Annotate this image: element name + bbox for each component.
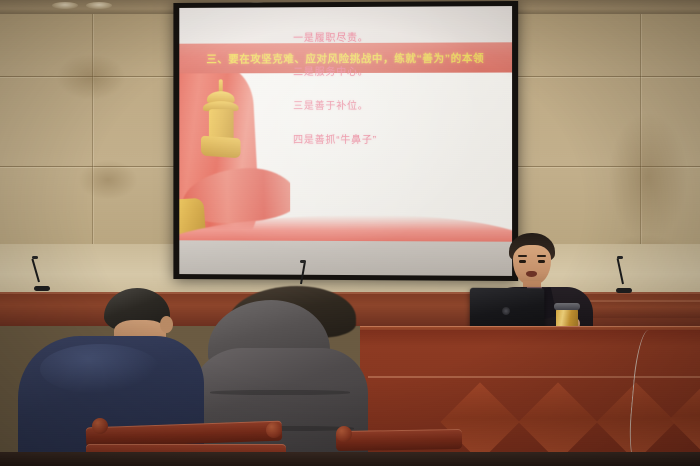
slide-line: 二是服务中心。 [293,63,377,78]
microphone-head-icon [32,256,38,259]
chair-knob [266,422,282,438]
thermos-lid [554,303,580,310]
recessed-ceiling-light [52,2,78,9]
presenter-eyebrow [537,255,546,257]
slide-line: 一是履职尽责。 [293,29,377,44]
presenter-mouth [526,271,537,277]
chair-back [336,429,462,451]
attendee-ear [160,316,173,333]
microphone-head-icon [617,256,623,259]
projection-screen-frame: 三、要在攻坚克难、应对风险挑战中，练就“善为”的本领 一是履职尽责。 二是服务中… [173,1,518,281]
presenter-eye [519,260,526,263]
presenter-eyebrow [518,255,527,257]
laptop-logo-icon [502,307,510,315]
slide-bottom-edge [179,240,512,276]
jacket-highlight [40,344,160,394]
wall-stain [608,112,688,242]
presenter-face [513,245,551,285]
chair-knob [92,418,108,434]
chair-knob [336,426,352,442]
recessed-ceiling-light [86,2,112,9]
slide-body-lines: 一是履职尽责。 二是服务中心。 三是善于补位。 四是善抓“牛鼻子” [293,29,377,146]
golden-tower-icon [205,79,239,187]
slide-flag-decoration [179,73,290,243]
slide-line: 四是善抓“牛鼻子” [293,131,377,146]
floor [0,452,700,466]
microphone-base [616,288,632,293]
parka-seam [210,390,350,395]
conference-room-photo: 三、要在攻坚克难、应对风险挑战中，练就“善为”的本领 一是履职尽责。 二是服务中… [0,0,700,466]
projection-screen-surface: 三、要在攻坚克难、应对风险挑战中，练就“善为”的本领 一是履职尽责。 二是服务中… [179,6,512,276]
wall-stain [56,54,126,100]
presenter-eye [538,260,545,263]
microphone-head-icon [300,260,306,263]
slide-line: 三是善于补位。 [293,97,377,112]
